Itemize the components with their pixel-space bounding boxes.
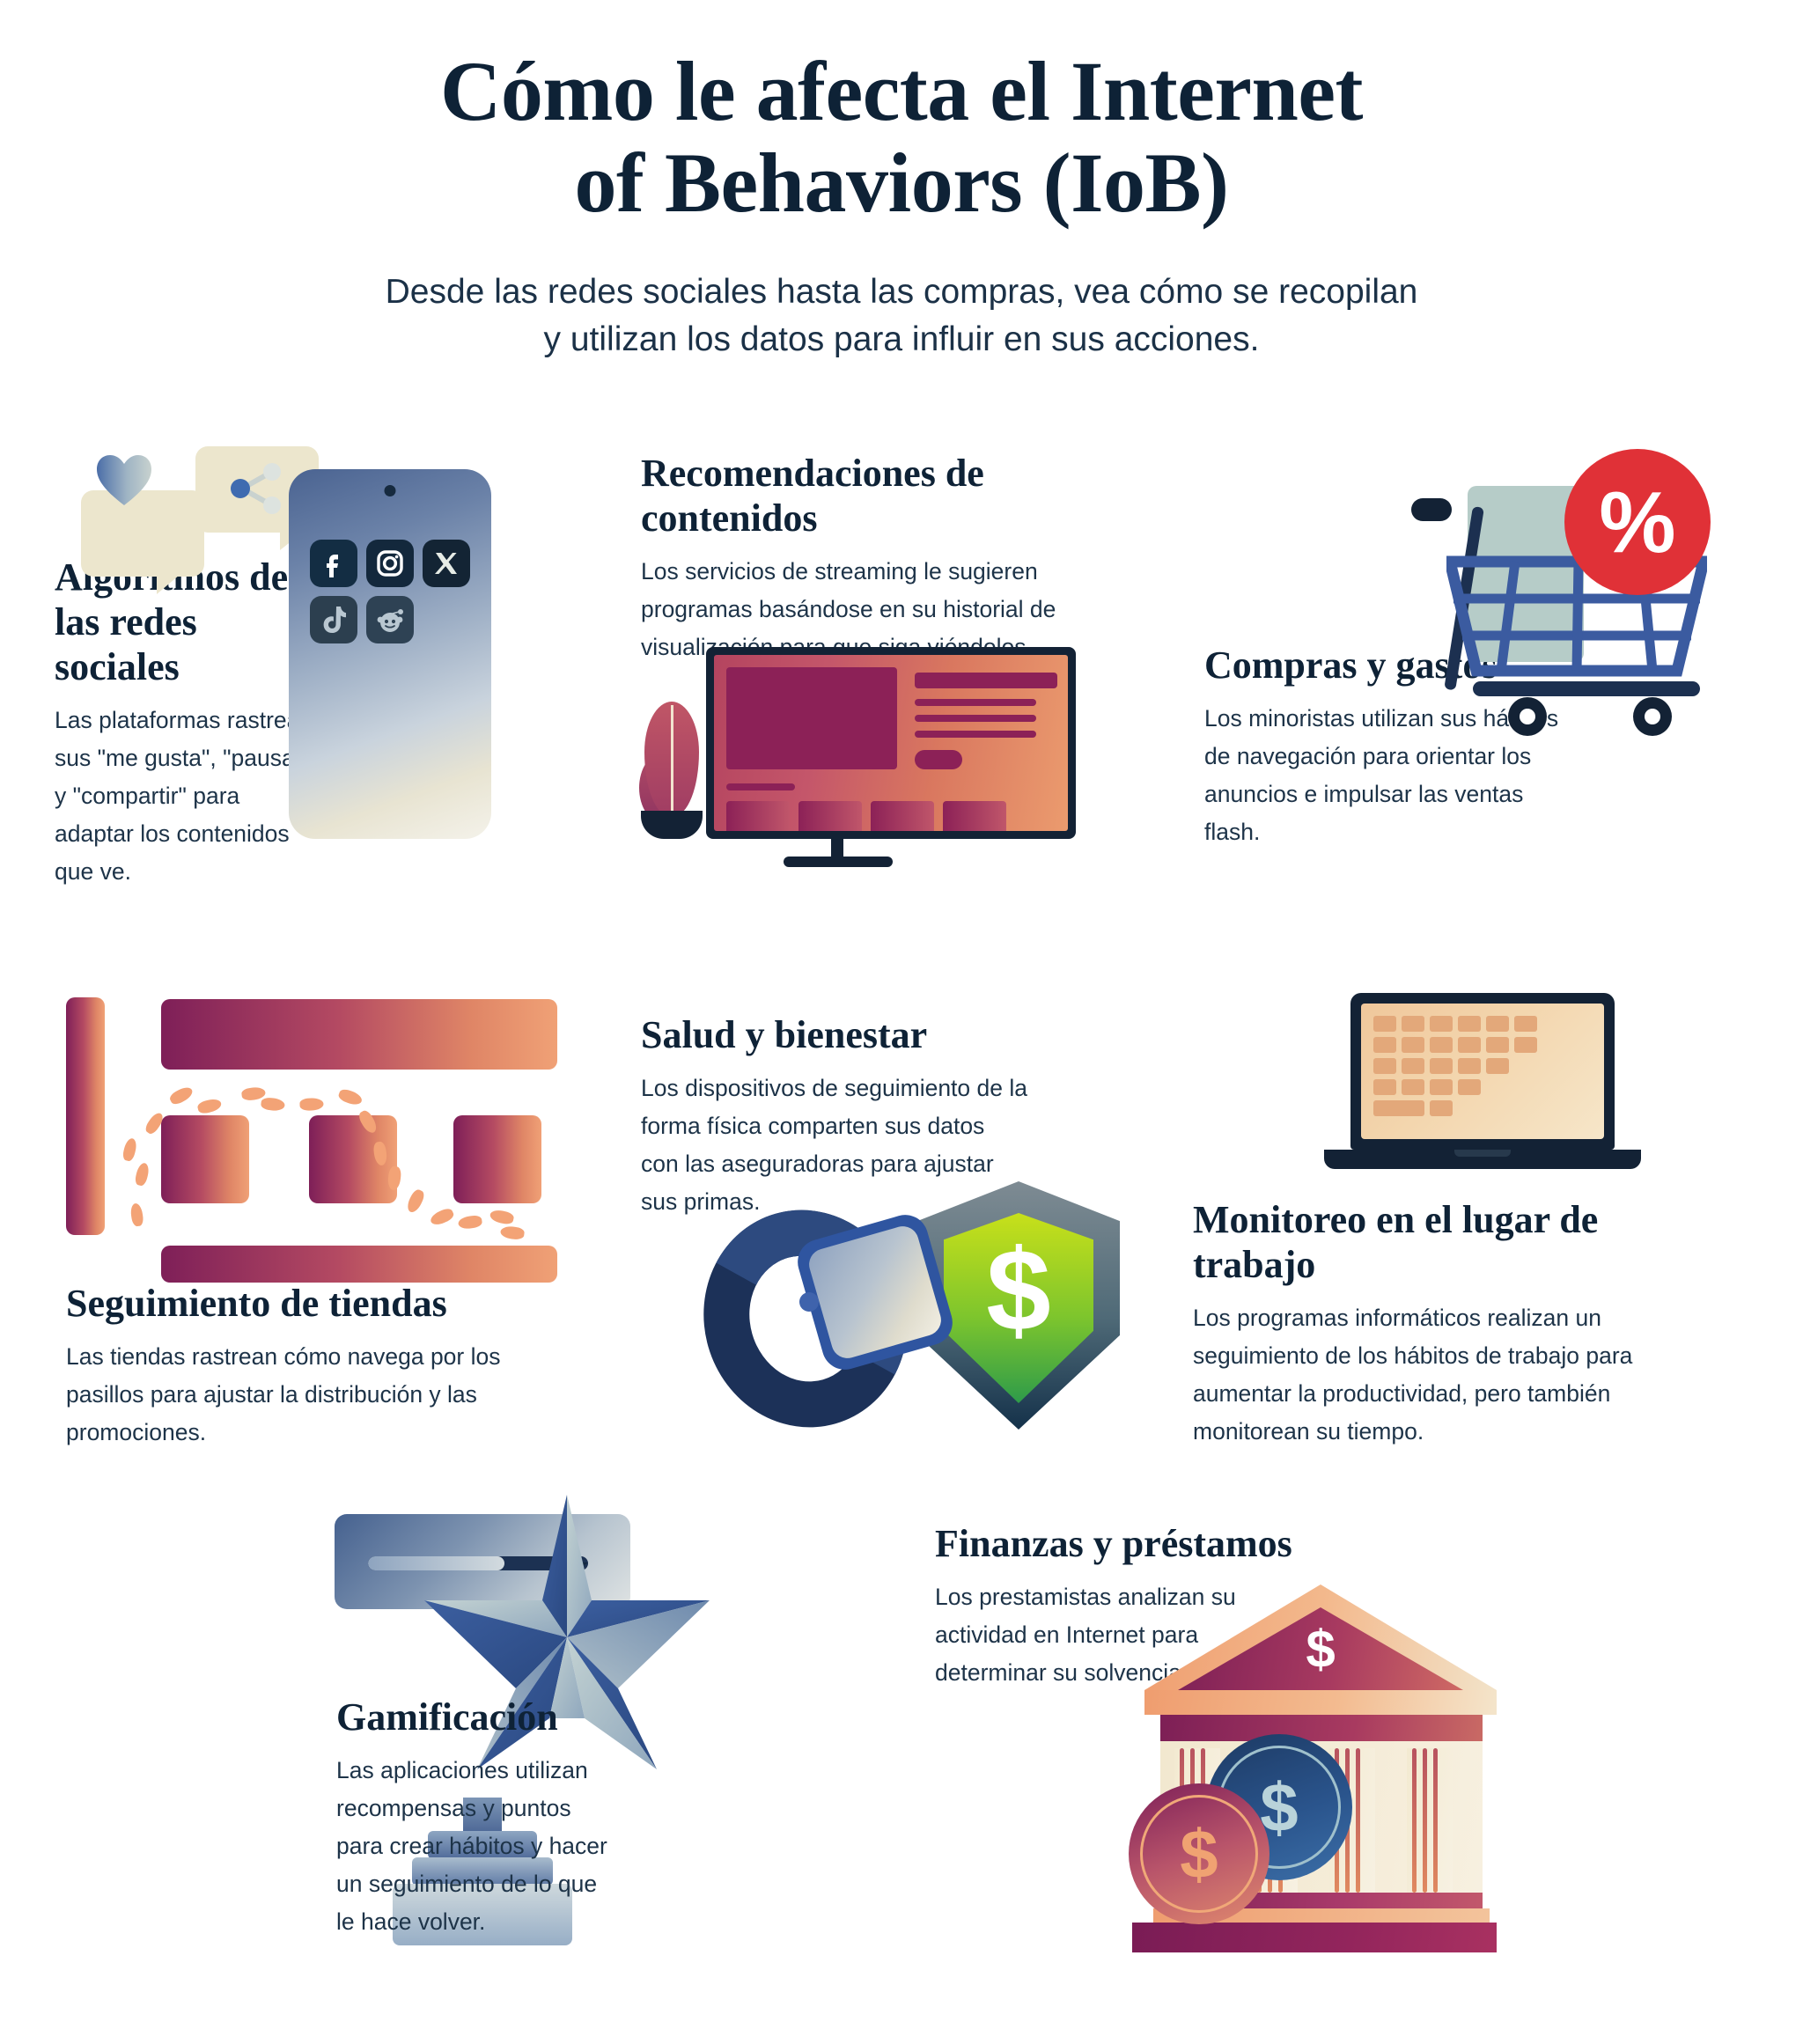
footprint	[121, 1137, 138, 1162]
x-twitter-icon[interactable]	[423, 540, 470, 587]
footprint	[134, 1162, 151, 1187]
section-heading: Finanzas y préstamos	[935, 1521, 1305, 1566]
section-heading: Gamificación	[336, 1695, 618, 1739]
discount-badge: %	[1564, 449, 1711, 595]
screen-text-line	[915, 731, 1036, 738]
dollar-sign-shield: $	[944, 1232, 1093, 1349]
screen-thumb	[726, 801, 790, 831]
page-title: Cómo le afecta el Internet of Behaviors …	[0, 46, 1803, 228]
section-heading: Recomendaciones de contenidos	[641, 451, 1081, 540]
illustration-television	[634, 647, 1092, 876]
store-shelf-vertical	[66, 997, 105, 1235]
screen-cell	[1458, 1058, 1481, 1074]
cart-bottom-bar	[1473, 681, 1700, 696]
screen-cell	[1458, 1016, 1481, 1032]
footprint	[458, 1215, 483, 1231]
illustration-store-floorplan	[66, 990, 577, 1272]
section-heading: Seguimiento de tiendas	[66, 1281, 524, 1326]
screen-cell	[1373, 1037, 1396, 1053]
smartphone-device	[289, 469, 491, 839]
footprint	[429, 1207, 455, 1228]
footprint	[196, 1097, 223, 1114]
screen-thumb	[943, 801, 1006, 831]
screen-thumb	[871, 801, 934, 831]
screen-play-button	[915, 750, 962, 769]
section-content-recommendations: Recomendaciones de contenidos Los servic…	[641, 451, 1081, 666]
illustration-phone-social	[62, 436, 502, 849]
bank-column	[1407, 1748, 1453, 1893]
screen-cell	[1373, 1079, 1396, 1095]
screen-cell	[1514, 1016, 1537, 1032]
screen-cell-wide	[1373, 1100, 1424, 1116]
screen-text-line	[915, 699, 1036, 706]
screen-cell	[1458, 1037, 1481, 1053]
footprint	[129, 1202, 144, 1227]
screen-cell	[1402, 1037, 1424, 1053]
section-workplace-monitoring: Monitoreo en el lugar de trabajo Los pro…	[1193, 1197, 1704, 1451]
screen-cell	[1402, 1058, 1424, 1074]
cart-wheel-right	[1633, 697, 1672, 736]
screen-cell	[1430, 1016, 1453, 1032]
screen-text-line	[915, 715, 1036, 722]
footprint	[168, 1084, 195, 1107]
dollar-sign-coin-red: $	[1129, 1820, 1269, 1888]
screen-thumb	[798, 801, 862, 831]
illustration-shopping-cart: %	[1369, 440, 1739, 739]
screen-cell	[1402, 1079, 1424, 1095]
page-title-line-2: of Behaviors (IoB)	[0, 137, 1803, 229]
section-store-tracking: Seguimiento de tiendas Las tiendas rastr…	[66, 1281, 524, 1452]
cart-handle-grip	[1411, 498, 1452, 521]
plant-pot	[641, 811, 703, 839]
store-shelf-bottom	[161, 1246, 557, 1283]
laptop-lid	[1350, 993, 1615, 1150]
bank-lintel	[1144, 1690, 1497, 1715]
tv-screen	[714, 655, 1068, 831]
screen-cell	[1458, 1079, 1481, 1095]
footprint	[299, 1098, 323, 1111]
screen-cell	[1430, 1100, 1453, 1116]
laptop-trackpad-notch	[1454, 1150, 1511, 1157]
screen-cell	[1373, 1016, 1396, 1032]
tv-frame	[706, 647, 1076, 839]
bank-architrave	[1160, 1715, 1483, 1741]
plant-stem	[671, 705, 673, 816]
section-heading: Salud y bienestar	[641, 1012, 1028, 1057]
reddit-icon[interactable]	[366, 596, 414, 643]
smartwatch-crown	[799, 1292, 819, 1312]
share-icon	[227, 462, 285, 515]
page-subtitle: Desde las redes sociales hasta las compr…	[382, 268, 1421, 364]
tiktok-icon[interactable]	[310, 596, 357, 643]
infographic-page: Cómo le afecta el Internet of Behaviors …	[0, 0, 1803, 2044]
dollar-sign-bank: $	[1178, 1623, 1463, 1676]
illustration-laptop	[1321, 993, 1655, 1222]
footprint	[405, 1187, 426, 1214]
laptop-screen	[1361, 1004, 1604, 1139]
phone-camera-dot	[385, 485, 396, 496]
screen-hero-tile	[726, 667, 897, 769]
section-heading: Monitoreo en el lugar de trabajo	[1193, 1197, 1704, 1287]
section-body: Los programas informáticos realizan un s…	[1193, 1299, 1704, 1451]
tv-stand	[831, 839, 843, 858]
facebook-icon[interactable]	[310, 540, 357, 587]
footprint	[387, 1165, 402, 1190]
tv-base	[784, 857, 893, 867]
screen-title-bar	[915, 673, 1057, 688]
phone-app-grid	[310, 540, 470, 643]
footprint	[489, 1209, 514, 1225]
footprint	[500, 1225, 525, 1240]
page-title-line-1: Cómo le afecta el Internet	[0, 46, 1803, 137]
screen-cell	[1486, 1058, 1509, 1074]
bank-base	[1132, 1923, 1497, 1952]
cart-wheel-left	[1508, 697, 1547, 736]
screen-cell	[1402, 1016, 1424, 1032]
heart-icon	[97, 455, 151, 506]
footprint	[261, 1097, 285, 1112]
footprint	[337, 1087, 364, 1107]
page-header: Cómo le afecta el Internet of Behaviors …	[0, 0, 1803, 364]
screen-cell	[1373, 1058, 1396, 1074]
section-gamification: Gamificación Las aplicaciones utilizan r…	[336, 1695, 618, 1941]
screen-cell	[1514, 1037, 1537, 1053]
screen-cell	[1486, 1016, 1509, 1032]
section-body: Las tiendas rastrean cómo navega por los…	[66, 1338, 524, 1452]
illustration-bank-coins: $ $ $	[1004, 1584, 1497, 1954]
smartwatch-screen	[806, 1223, 945, 1362]
screen-row-label	[726, 783, 795, 790]
instagram-icon[interactable]	[366, 540, 414, 587]
illustration-watch-shield: $	[695, 1180, 1162, 1444]
screen-cell	[1486, 1037, 1509, 1053]
store-shelf-block	[161, 1115, 249, 1203]
screen-cell	[1430, 1058, 1453, 1074]
store-shelf-top	[161, 999, 557, 1070]
screen-cell	[1430, 1079, 1453, 1095]
store-shelf-block	[453, 1115, 541, 1203]
coin-red: $	[1129, 1783, 1269, 1924]
section-body: Las aplicaciones utilizan recompensas y …	[336, 1752, 618, 1941]
screen-cell	[1430, 1037, 1453, 1053]
